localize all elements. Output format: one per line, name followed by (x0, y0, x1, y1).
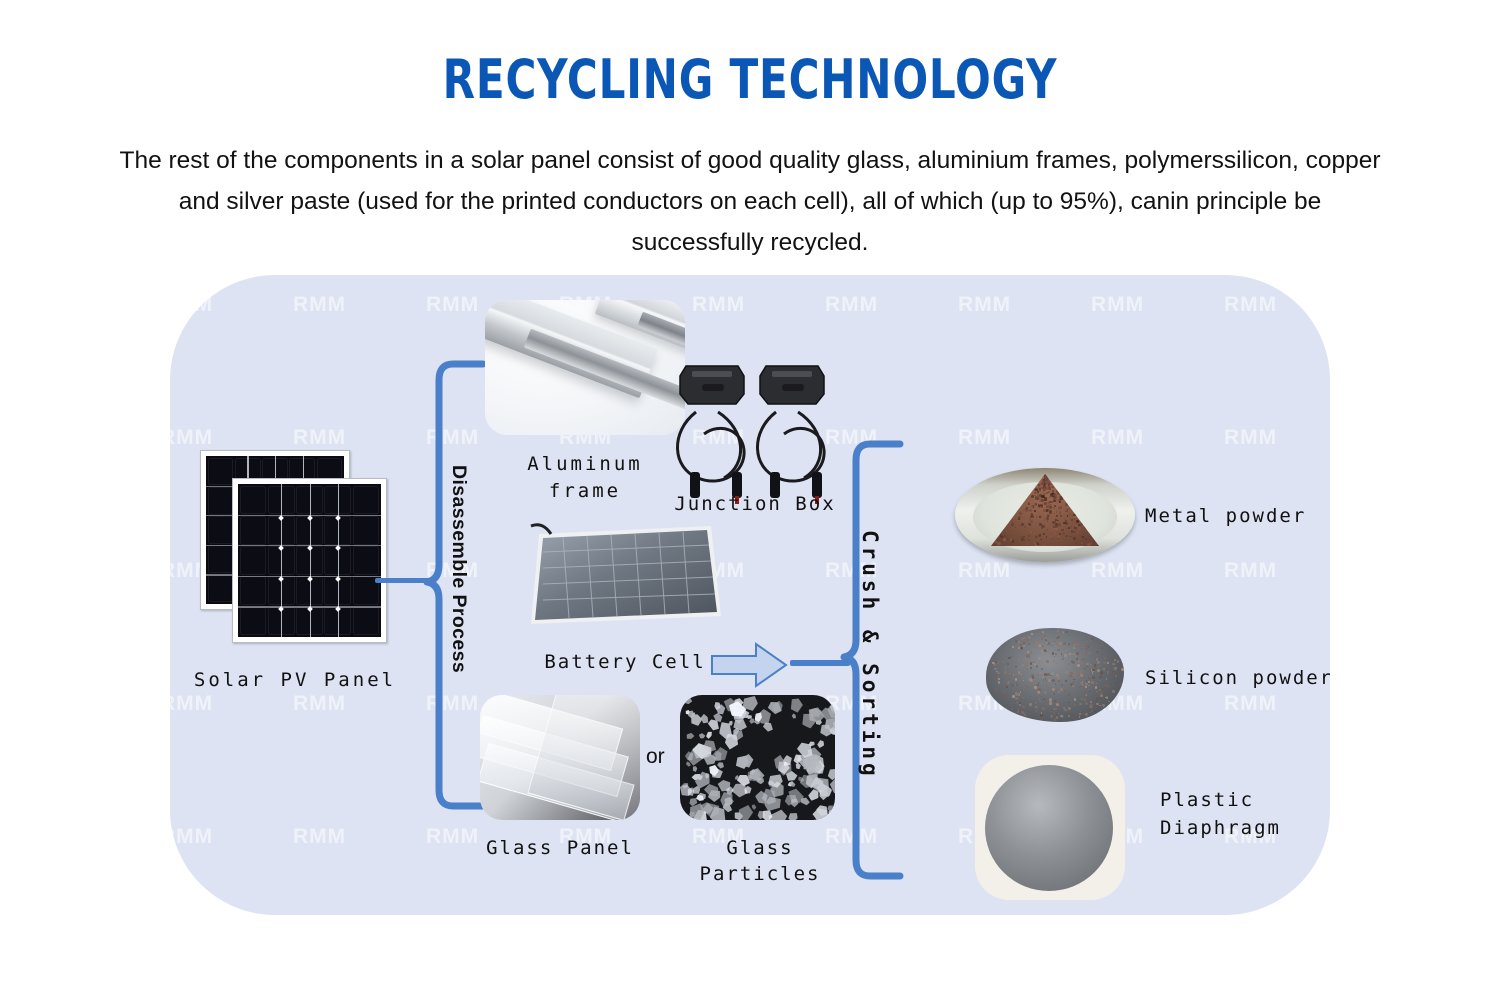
powder-grain (1030, 662, 1032, 664)
powder-grain (1038, 633, 1039, 634)
powder-grain (1048, 487, 1051, 490)
solar-pv-panel-label: Solar PV Panel (170, 667, 420, 693)
powder-grain (1044, 673, 1047, 676)
powder-grain (1041, 495, 1044, 498)
powder-grain (1040, 534, 1041, 535)
powder-grain (1057, 500, 1058, 501)
powder-grain (1041, 527, 1043, 529)
powder-grain (1034, 663, 1035, 664)
powder-grain (1026, 654, 1029, 657)
powder-grain (1014, 543, 1016, 545)
powder-grain (1039, 701, 1040, 702)
glass-fragment (682, 695, 694, 705)
powder-grain (1024, 526, 1026, 528)
powder-grain (1004, 541, 1005, 542)
powder-grain (1050, 644, 1052, 646)
powder-grain (1006, 531, 1007, 532)
powder-grain (1036, 516, 1038, 518)
powder-grain (1099, 689, 1101, 691)
glass-fragment (790, 712, 796, 719)
powder-grain (1063, 522, 1065, 524)
powder-grain (1019, 682, 1022, 685)
powder-grain (1104, 657, 1106, 659)
powder-grain (1051, 672, 1054, 675)
powder-grain (1051, 501, 1053, 503)
or-connector-label: or (646, 745, 665, 769)
powder-grain (1015, 666, 1016, 667)
powder-grain (1045, 482, 1046, 483)
powder-grain (1016, 530, 1017, 531)
powder-grain (1071, 517, 1072, 518)
powder-grain (1032, 512, 1035, 515)
powder-grain (1046, 536, 1048, 538)
powder-grain (1057, 636, 1060, 639)
powder-grain (1012, 695, 1015, 698)
powder-grain (1096, 658, 1098, 660)
powder-grain (1053, 507, 1055, 509)
powder-grain (1085, 702, 1088, 705)
powder-grain (1098, 662, 1100, 664)
powder-grain (1059, 510, 1061, 512)
powder-grain (1006, 686, 1008, 688)
battery-cell-image (525, 520, 725, 635)
metal-powder-image (955, 460, 1135, 570)
powder-grain (1044, 497, 1047, 500)
powder-grain (1031, 633, 1033, 635)
powder-grain (1053, 712, 1054, 713)
powder-grain (1024, 637, 1026, 639)
powder-grain (1080, 682, 1083, 685)
powder-grain (1079, 713, 1081, 715)
powder-grain (1032, 515, 1035, 518)
powder-grain (1074, 691, 1076, 693)
powder-grain (1091, 638, 1094, 641)
powder-grain (1051, 715, 1052, 716)
glass-fragment (750, 803, 757, 810)
powder-grain (1082, 658, 1085, 661)
powder-grain (1028, 497, 1031, 500)
powder-grain (1026, 639, 1029, 642)
powder-grain (1038, 505, 1040, 507)
powder-grain (1068, 527, 1070, 529)
powder-grain (1076, 658, 1078, 660)
powder-grain (1076, 652, 1078, 654)
powder-grain (1078, 527, 1081, 530)
plastic-diaphragm-image (975, 755, 1125, 900)
powder-grain (1052, 688, 1055, 691)
powder-grain (1036, 706, 1039, 709)
powder-grain (1096, 691, 1098, 693)
powder-grain (1076, 716, 1079, 719)
powder-grain (1042, 716, 1044, 718)
powder-grain (1041, 509, 1042, 510)
powder-grain (1052, 521, 1055, 524)
powder-grain (1028, 535, 1030, 537)
powder-grain (1081, 698, 1083, 700)
powder-grain (1076, 543, 1077, 544)
powder-grain (1112, 663, 1114, 665)
page-title: RECYCLING TECHNOLOGY (165, 48, 1335, 111)
powder-grain (1114, 659, 1116, 661)
powder-grain (1085, 538, 1087, 540)
junction-box-label: Junction Box (640, 491, 870, 517)
pv-cell (240, 607, 267, 636)
powder-grain (1081, 542, 1082, 543)
powder-grain (1054, 535, 1055, 536)
powder-grain (1090, 664, 1092, 666)
powder-grain (1062, 631, 1064, 633)
powder-grain (1008, 530, 1010, 532)
powder-grain (1056, 511, 1058, 513)
powder-grain (1023, 642, 1025, 644)
pv-cell (240, 486, 267, 515)
intro-paragraph: The rest of the components in a solar pa… (110, 140, 1390, 263)
powder-grain (1028, 678, 1031, 681)
powder-grain (1049, 506, 1052, 509)
pv-busbar (310, 484, 311, 637)
powder-grain (1023, 513, 1024, 514)
pv-cell (353, 486, 380, 515)
powder-grain (1031, 674, 1034, 677)
powder-grain (1069, 644, 1070, 645)
powder-grain (1073, 679, 1074, 680)
pv-cell (208, 575, 234, 603)
powder-grain (1031, 652, 1032, 653)
powder-grain (1079, 537, 1081, 539)
powder-grain (1003, 538, 1006, 541)
glass-panel-image (480, 695, 640, 820)
glass-fragment (698, 731, 707, 739)
powder-grain (1065, 671, 1068, 674)
powder-grain (1038, 512, 1039, 513)
powder-grain (1057, 702, 1059, 704)
powder-grain (1091, 710, 1093, 712)
powder-grain (1038, 544, 1039, 545)
pv-cell (240, 546, 267, 575)
powder-grain (1058, 524, 1061, 527)
powder-grain (1054, 700, 1056, 702)
infographic-root: RECYCLING TECHNOLOGY The rest of the com… (0, 0, 1500, 1000)
powder-grain (1077, 531, 1079, 533)
powder-grain (1063, 642, 1066, 645)
glass-particles-label: Glass Particles (660, 835, 860, 887)
powder-grain (998, 681, 1000, 683)
powder-grain (1043, 490, 1045, 492)
powder-grain (1055, 662, 1057, 664)
powder-grain (1024, 539, 1025, 540)
process-diagram-panel: RMMRMMRMMRMMRMMRMMRMMRMMRMMRMMRMMRMMRMMR… (170, 275, 1330, 915)
powder-grain (1053, 544, 1055, 546)
powder-grain (1027, 666, 1030, 669)
powder-grain (1009, 666, 1010, 667)
powder-grain (1103, 661, 1106, 664)
powder-grain (1027, 716, 1029, 718)
powder-grain (1007, 539, 1009, 541)
powder-grain (997, 674, 1000, 677)
powder-grain (1046, 704, 1049, 707)
powder-grain (1099, 676, 1101, 678)
powder-grain (1073, 531, 1075, 533)
powder-grain (1043, 518, 1046, 521)
glass-fragment (692, 766, 699, 773)
silicon-powder-label: Silicon powder (1145, 665, 1330, 691)
powder-grain (1085, 645, 1088, 648)
powder-grain (1055, 708, 1057, 710)
powder-grain (1009, 673, 1011, 675)
powder-grain (1084, 699, 1087, 702)
powder-grain (1057, 520, 1058, 521)
powder-grain (1054, 656, 1055, 657)
powder-grain (1101, 648, 1102, 649)
powder-grain (1121, 668, 1124, 671)
powder-grain (1047, 515, 1049, 517)
powder-grain (1049, 698, 1052, 701)
powder-grain (1082, 536, 1083, 537)
powder-grain (1022, 697, 1023, 698)
powder-grain (994, 668, 997, 671)
powder-grain (1015, 648, 1016, 649)
powder-grain (1032, 523, 1035, 526)
powder-grain (1071, 713, 1073, 715)
powder-grain (1044, 649, 1047, 652)
powder-grain (1111, 658, 1114, 661)
plastic-diaphragm-label-line1: Plastic (1160, 787, 1330, 813)
powder-grain (1005, 695, 1008, 698)
powder-grain (1050, 675, 1051, 676)
powder-grain (1020, 690, 1022, 692)
connector-line-crush (790, 660, 850, 666)
powder-grain (1077, 532, 1079, 534)
powder-grain (1028, 643, 1030, 645)
powder-grain (1005, 669, 1006, 670)
powder-grain (1002, 661, 1004, 663)
flow-arrow-icon (710, 640, 788, 695)
glass-fragment (788, 811, 799, 820)
powder-grain (1015, 678, 1017, 680)
powder-grain (1035, 533, 1038, 536)
powder-grain (1021, 523, 1024, 526)
powder-grain (1015, 697, 1018, 700)
pv-cell (240, 516, 267, 545)
powder-grain (1071, 519, 1073, 521)
powder-grain (1036, 665, 1039, 668)
powder-grain (1067, 515, 1069, 517)
powder-grain (1022, 676, 1024, 678)
powder-grain (1044, 691, 1047, 694)
powder-grain (1099, 705, 1100, 706)
powder-grain (1032, 494, 1033, 495)
powder-grain (1053, 518, 1054, 519)
glass-particles-image (680, 695, 835, 820)
powder-grain (997, 672, 999, 674)
powder-grain (1052, 528, 1055, 531)
powder-grain (1046, 660, 1049, 663)
powder-grain (1034, 495, 1035, 496)
powder-grain (1040, 506, 1042, 508)
powder-grain (1047, 497, 1048, 498)
powder-grain (1053, 494, 1055, 496)
powder-grain (1032, 500, 1035, 503)
pv-module-front (232, 478, 387, 643)
powder-grain (1079, 671, 1082, 674)
powder-grain (1059, 642, 1062, 645)
powder-grain (1020, 536, 1022, 538)
powder-grain (1102, 704, 1105, 707)
powder-grain (1093, 702, 1094, 703)
powder-grain (1042, 676, 1044, 678)
disassemble-process-label: Disassemble Process (447, 465, 470, 673)
powder-grain (1116, 682, 1118, 684)
powder-grain (998, 678, 1000, 680)
powder-grain (1020, 533, 1023, 536)
powder-grain (1096, 651, 1098, 653)
powder-grain (1074, 704, 1076, 706)
powder-grain (1009, 523, 1011, 525)
powder-grain (1015, 527, 1016, 528)
powder-grain (1031, 495, 1034, 498)
powder-grain (1095, 543, 1097, 545)
powder-grain (1095, 686, 1098, 689)
powder-grain (1058, 680, 1060, 682)
pv-cell (208, 545, 234, 573)
powder-grain (1073, 537, 1076, 540)
glass-fragment (706, 730, 714, 740)
metal-powder-label: Metal powder (1145, 503, 1330, 529)
powder-grain (1046, 509, 1048, 511)
powder-grain (1005, 667, 1006, 668)
powder-grain (1059, 501, 1061, 503)
powder-grain (1046, 478, 1048, 480)
powder-grain (1019, 525, 1020, 526)
pv-cell (208, 516, 234, 544)
powder-grain (1007, 681, 1010, 684)
pv-busbar (338, 484, 339, 637)
aluminum-frame-image (485, 300, 685, 435)
glass-fragment (787, 696, 804, 713)
powder-grain (1024, 520, 1026, 522)
powder-grain (1080, 674, 1083, 677)
powder-grain (1043, 698, 1045, 700)
powder-grain (1096, 703, 1097, 704)
powder-grain (1068, 535, 1069, 536)
powder-grain (1040, 539, 1041, 540)
powder-grain (1059, 496, 1062, 499)
crush-sorting-label: Crush & Sorting (858, 530, 882, 780)
powder-grain (1062, 532, 1065, 535)
powder-grain (1075, 655, 1077, 657)
powder-grain (1064, 508, 1067, 511)
pv-cell (240, 576, 267, 605)
glass-panel-label: Glass Panel (460, 835, 660, 861)
powder-grain (1049, 532, 1051, 534)
powder-grain (1059, 533, 1061, 535)
powder-grain (1073, 653, 1075, 655)
powder-grain (1038, 691, 1040, 693)
powder-grain (1023, 680, 1024, 681)
powder-grain (1026, 685, 1029, 688)
powder-grain (1040, 522, 1041, 523)
powder-grain (1113, 678, 1116, 681)
powder-grain (1069, 518, 1070, 519)
powder-grain (1011, 522, 1014, 525)
powder-grain (1051, 538, 1053, 540)
powder-grain (1057, 538, 1058, 539)
powder-grain (1068, 508, 1070, 510)
plastic-diaphragm-label-line2: Diaphragm (1160, 815, 1330, 841)
powder-grain (1076, 520, 1079, 523)
powder-grain (1089, 704, 1092, 707)
powder-grain (1088, 686, 1089, 687)
silicon-powder-image (980, 620, 1130, 728)
powder-grain (1090, 701, 1092, 703)
solar-pv-panel-image (190, 450, 400, 650)
powder-grain (1114, 667, 1117, 670)
powder-grain (1056, 515, 1058, 517)
powder-grain (1043, 533, 1045, 535)
powder-grain (1050, 535, 1052, 537)
powder-grain (1039, 516, 1041, 518)
powder-grain (1064, 654, 1067, 657)
powder-grain (1042, 631, 1044, 633)
powder-grain (995, 661, 997, 663)
powder-grain (1052, 652, 1054, 654)
powder-grain (1105, 684, 1108, 687)
powder-grain (1099, 680, 1101, 682)
powder-grain (1034, 686, 1037, 689)
pv-cell (353, 516, 380, 545)
powder-grain (1072, 676, 1074, 678)
powder-grain (1047, 650, 1048, 651)
powder-grain (1028, 539, 1030, 541)
powder-grain (996, 660, 999, 663)
powder-grain (1053, 513, 1055, 515)
powder-grain (1069, 672, 1070, 673)
powder-grain (1018, 645, 1020, 647)
powder-grain (1087, 543, 1090, 546)
powder-grain (1070, 526, 1071, 527)
powder-grain (1050, 663, 1053, 666)
powder-grain (1019, 704, 1021, 706)
powder-grain (1037, 673, 1040, 676)
powder-grain (1033, 508, 1034, 509)
powder-grain (1060, 688, 1063, 691)
powder-grain (1068, 693, 1070, 695)
powder-grain (1033, 491, 1036, 494)
powder-grain (1017, 539, 1019, 541)
powder-grain (1047, 529, 1048, 530)
pv-cell (353, 607, 380, 636)
powder-grain (1052, 679, 1055, 682)
powder-grain (1027, 651, 1029, 653)
pv-cell (353, 546, 380, 575)
powder-grain (1103, 668, 1105, 670)
powder-grain (1091, 681, 1094, 684)
powder-grain (1038, 682, 1039, 683)
powder-grain (998, 542, 1001, 545)
powder-grain (1086, 655, 1087, 656)
powder-grain (1053, 488, 1054, 489)
powder-grain (1035, 702, 1037, 704)
powder-grain (1074, 518, 1075, 519)
glass-fragment (685, 731, 696, 740)
pv-busbar (281, 484, 282, 637)
powder-grain (1086, 680, 1087, 681)
powder-grain (1038, 644, 1040, 646)
powder-grain (1049, 497, 1050, 498)
powder-grain (1070, 514, 1071, 515)
powder-grain (1030, 531, 1032, 533)
powder-grain (1071, 540, 1073, 542)
